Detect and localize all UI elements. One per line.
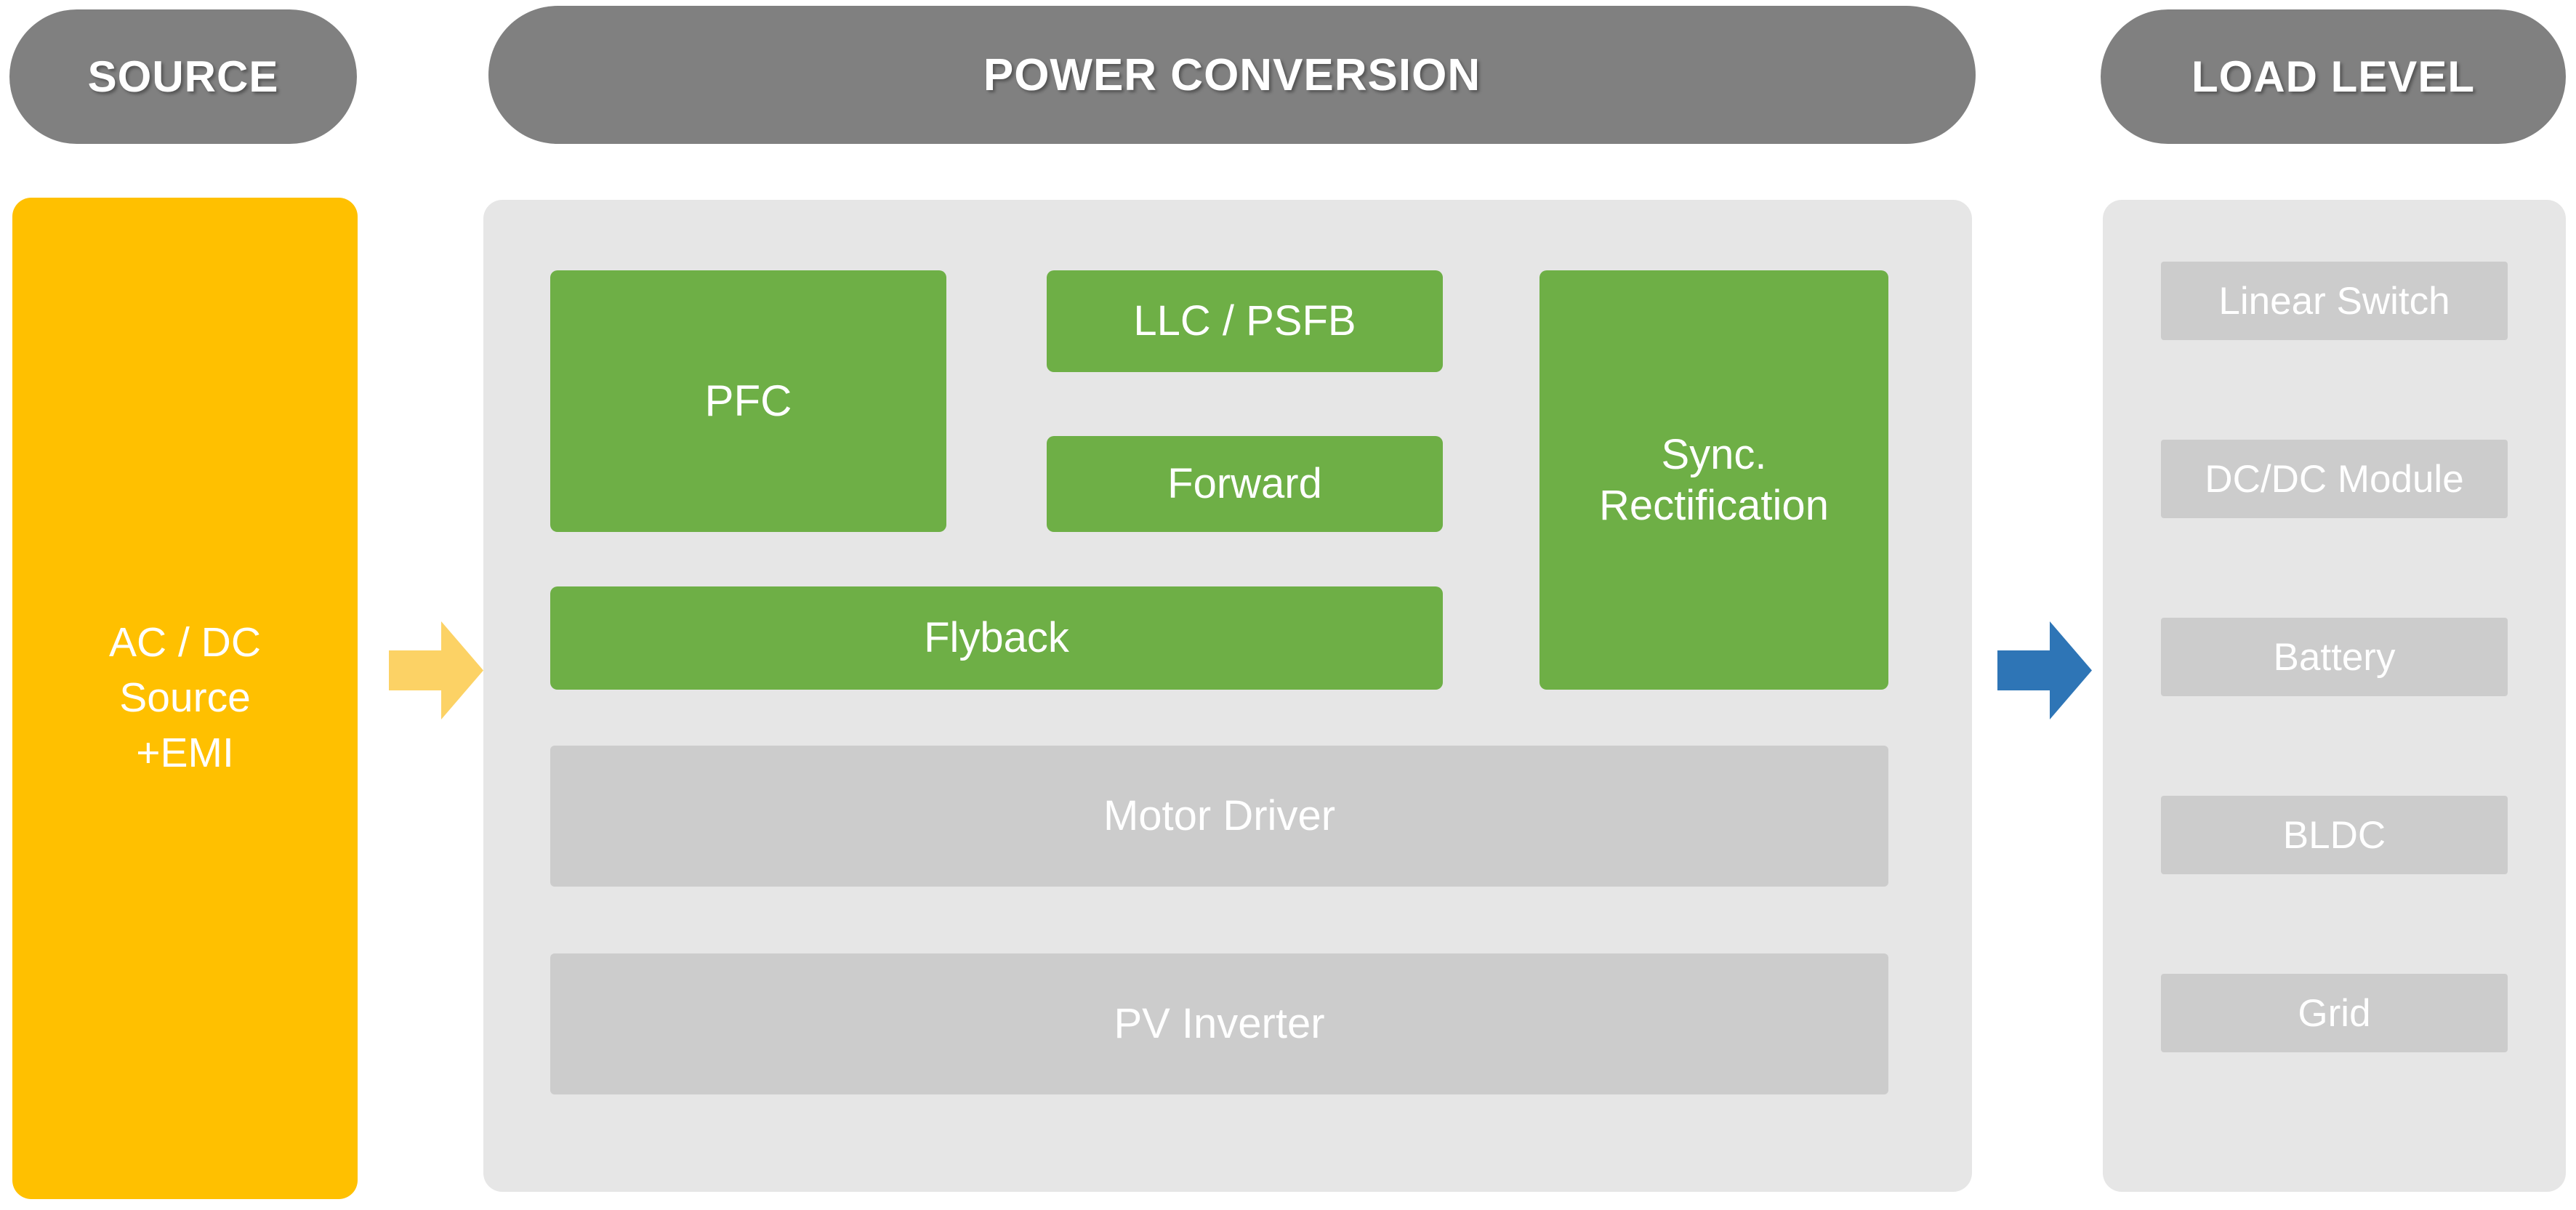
header-pill-load-level: LOAD LEVEL: [2101, 9, 2566, 144]
right-arrow-icon-output: [1997, 621, 2092, 719]
conversion-block-sync-rectification: Sync. Rectification: [1539, 270, 1888, 690]
load-item-linear-switch: Linear Switch: [2161, 262, 2508, 340]
conversion-block-flyback: Flyback: [550, 586, 1443, 690]
load-item-dcdc-module: DC/DC Module: [2161, 440, 2508, 518]
conversion-block-pv-inverter: PV Inverter: [550, 953, 1888, 1094]
conversion-block-motor-driver: Motor Driver: [550, 746, 1888, 887]
source-block-label: AC / DC Source +EMI: [109, 616, 261, 781]
load-item-battery: Battery: [2161, 618, 2508, 696]
conversion-block-forward: Forward: [1047, 436, 1443, 532]
header-pill-power-conversion: POWER CONVERSION: [488, 6, 1976, 144]
header-pill-source: SOURCE: [9, 9, 357, 144]
right-arrow-icon-input: [389, 621, 483, 719]
source-block: AC / DC Source +EMI: [12, 198, 358, 1199]
conversion-block-pfc: PFC: [550, 270, 946, 532]
load-item-grid: Grid: [2161, 974, 2508, 1052]
conversion-block-llc-psfb: LLC / PSFB: [1047, 270, 1443, 372]
power-system-block-diagram: SOURCE POWER CONVERSION LOAD LEVEL AC / …: [0, 0, 2576, 1210]
load-item-bldc: BLDC: [2161, 796, 2508, 874]
